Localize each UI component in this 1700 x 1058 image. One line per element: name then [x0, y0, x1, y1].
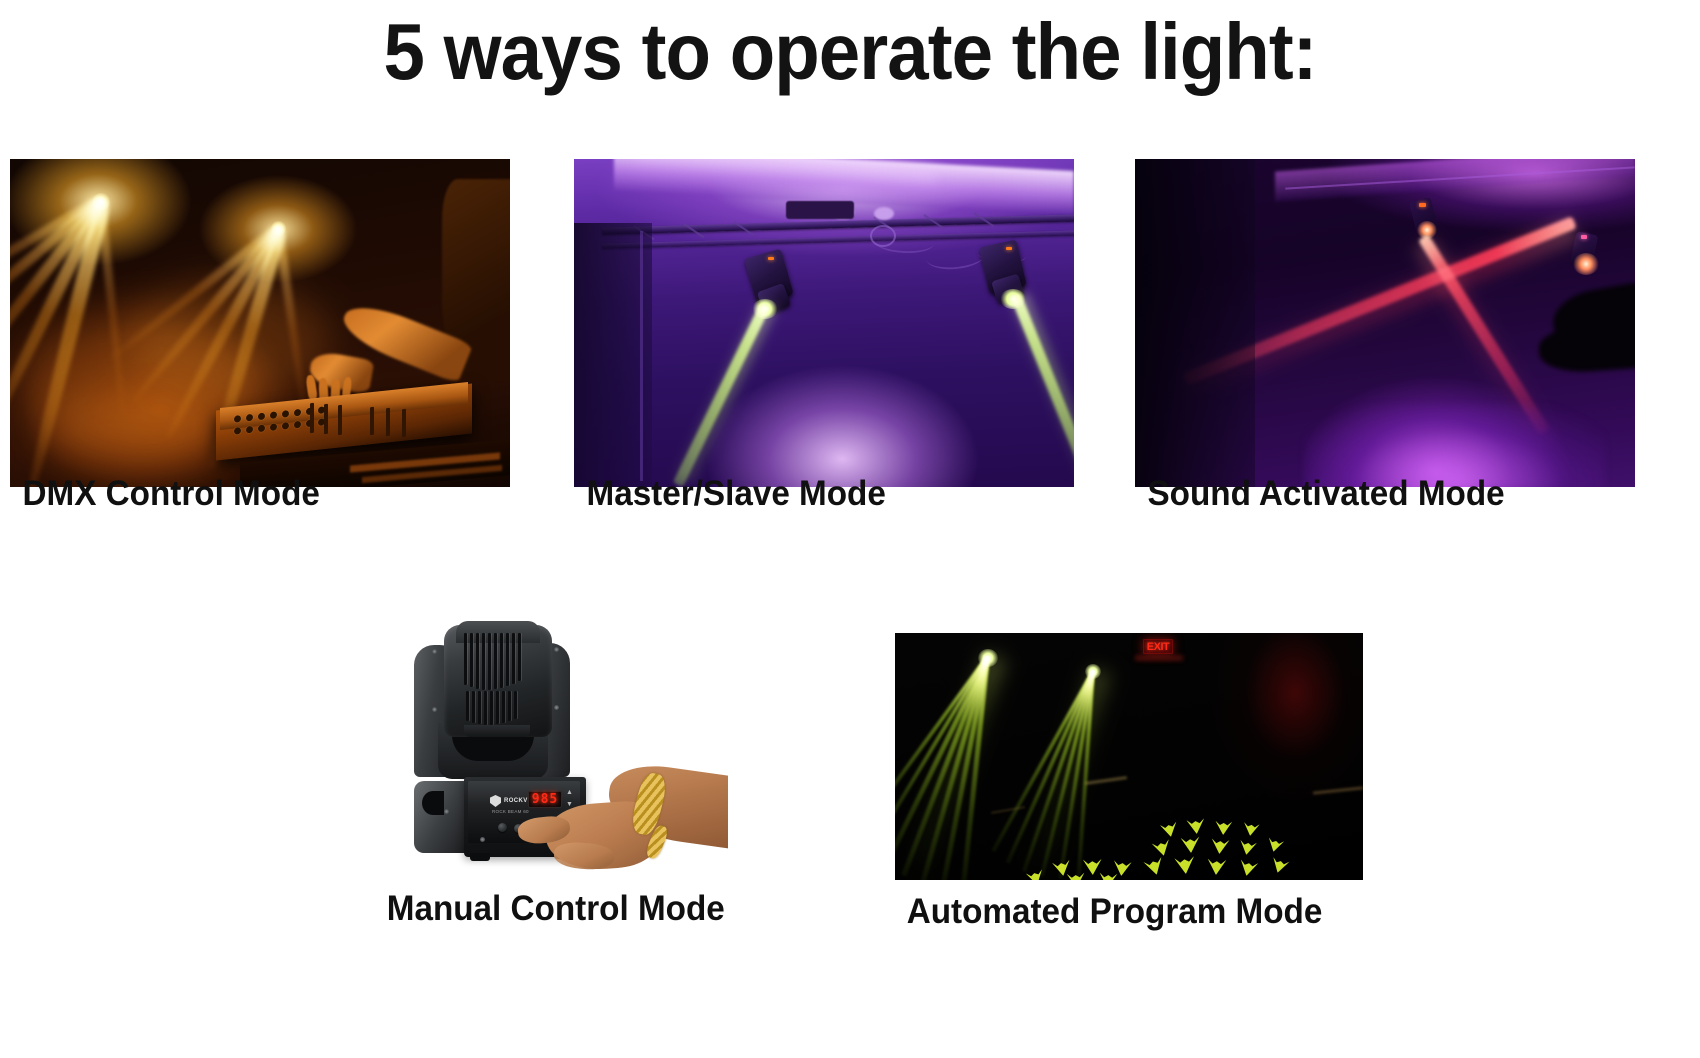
gobo-shape: [1160, 821, 1180, 838]
fixture-streak: [1313, 786, 1363, 794]
ceiling-mount: [786, 201, 854, 219]
controller-fader: [338, 405, 342, 435]
vent-slot: [464, 633, 467, 685]
cable-coil: [870, 225, 896, 247]
mode-caption-sound-activated: Sound Activated Mode: [1148, 474, 1623, 514]
fixture-status-led: [1581, 235, 1587, 239]
controller-knob: [282, 410, 289, 418]
gobo-shape: [1269, 857, 1289, 875]
beam-source: [1573, 253, 1599, 275]
fixture-status-led: [768, 257, 774, 260]
gobo-shape: [1206, 858, 1226, 875]
gobo-shape: [1180, 836, 1200, 853]
controller-knob: [294, 421, 301, 429]
vent-slot: [476, 633, 479, 689]
vent-slot: [478, 691, 481, 724]
fixture-streak: [991, 806, 1025, 814]
controller-knob: [246, 414, 253, 422]
vent-slot: [496, 691, 499, 724]
vent-slot: [512, 633, 515, 684]
fixture-status-led: [1006, 247, 1012, 250]
vent-slot: [472, 691, 475, 723]
exit-sign-glow: [1135, 655, 1183, 661]
mode-card-manual-control: ROCKVILLE ROCK BEAM 60 985 ▲ ▼ Manual Co…: [378, 573, 728, 878]
up-arrow-icon: ▲: [566, 789, 573, 796]
gobo-shape: [1186, 818, 1205, 835]
mode-photo-dmx: [10, 159, 510, 487]
gobo-shape: [1174, 856, 1196, 875]
vent-slot: [500, 633, 503, 688]
gobo-shape: [1238, 859, 1259, 877]
menu-button[interactable]: [498, 823, 507, 832]
head-vent-group: [466, 691, 517, 725]
screw: [432, 707, 437, 712]
vent-slot: [494, 633, 497, 689]
gobo-shape: [1098, 872, 1117, 880]
gobo-shape: [1112, 860, 1131, 877]
controller-knob: [270, 411, 277, 419]
lens-barrel: [464, 725, 530, 737]
beam-fan-glow: [1032, 668, 1111, 870]
vent-slot: [502, 691, 505, 723]
head-vent-group: [464, 633, 521, 690]
mode-card-dmx: DMX Control Mode: [10, 159, 510, 487]
mode-caption-manual-control: Manual Control Mode: [387, 889, 720, 929]
screw: [432, 649, 437, 654]
fixture-streak: [1085, 776, 1127, 785]
controller-fader: [324, 404, 328, 434]
screw: [554, 705, 559, 710]
ceiling-fixture: [874, 207, 894, 220]
haze: [40, 389, 220, 479]
vent-slot: [466, 691, 469, 721]
controller-fader: [386, 408, 390, 436]
beam-source: [978, 649, 998, 667]
brand-model: ROCK BEAM 60: [492, 809, 529, 814]
vent-slot: [508, 691, 511, 721]
screw: [480, 837, 485, 842]
controller-knob: [282, 422, 289, 430]
vent-slot: [482, 633, 485, 690]
wall-edge: [640, 231, 643, 481]
dj-hand: [308, 350, 375, 394]
gobo-shape: [1242, 822, 1260, 837]
side-wall: [1135, 159, 1255, 487]
vent-slot: [518, 633, 521, 681]
controller-fader: [310, 403, 314, 433]
controller-knob: [246, 426, 253, 434]
fixture-status-led: [1419, 203, 1426, 207]
gobo-shape: [1215, 821, 1233, 836]
mode-photo-automated-program: EXIT: [895, 633, 1363, 880]
gobo-shape: [1083, 859, 1103, 876]
mode-card-master-slave: Master/Slave Mode: [574, 159, 1074, 487]
controller-knob: [234, 427, 241, 435]
vent-slot: [514, 691, 517, 719]
vent-slot: [488, 633, 491, 690]
controller-knob: [270, 423, 277, 431]
hand-silhouette: [1538, 321, 1635, 375]
controller-knob: [258, 413, 265, 421]
vent-slot: [490, 691, 493, 725]
gobo-shape: [1151, 839, 1172, 858]
ceiling: [1275, 159, 1635, 202]
controller-fader: [402, 409, 406, 437]
vent-slot: [470, 633, 473, 687]
light-source: [271, 221, 286, 236]
green-beam-right-glow: [1011, 292, 1074, 487]
shield-icon: [490, 795, 501, 807]
screw: [554, 647, 559, 652]
mode-caption-automated-program: Automated Program Mode: [907, 892, 1352, 932]
vent-slot: [506, 633, 509, 686]
gobo-shape: [1210, 838, 1229, 855]
haze: [130, 279, 330, 399]
mode-caption-dmx: DMX Control Mode: [23, 474, 498, 514]
controller-knob: [258, 425, 265, 433]
mode-photo-sound-activated: [1135, 159, 1635, 487]
light-source: [92, 193, 110, 211]
exit-sign: EXIT: [1143, 639, 1173, 654]
beam-source: [1417, 221, 1437, 239]
base-handle-cutout: [422, 791, 444, 815]
gobo-shape: [1143, 857, 1166, 878]
mode-caption-master-slave: Master/Slave Mode: [587, 474, 1062, 514]
controller-knob: [294, 409, 301, 417]
gobo-shape: [1238, 840, 1257, 857]
vent-slot: [484, 691, 487, 725]
mode-card-automated-program: EXIT: [895, 633, 1363, 880]
mode-photo-master-slave: [574, 159, 1074, 487]
controller-knob: [234, 415, 241, 423]
beam-source: [1085, 664, 1101, 679]
green-beam-left-glow: [675, 301, 777, 484]
mode-photo-manual-control: ROCKVILLE ROCK BEAM 60 985 ▲ ▼: [378, 573, 728, 878]
gobo-shape: [1266, 837, 1285, 853]
controller-fader: [370, 407, 374, 435]
page-title: 5 ways to operate the light:: [60, 6, 1641, 98]
led-display: 985: [528, 791, 562, 808]
infographic-page: 5 ways to operate the light:: [0, 0, 1700, 1058]
base-foot: [470, 853, 490, 861]
mode-card-sound-activated: Sound Activated Mode: [1135, 159, 1635, 487]
screw: [444, 809, 449, 814]
